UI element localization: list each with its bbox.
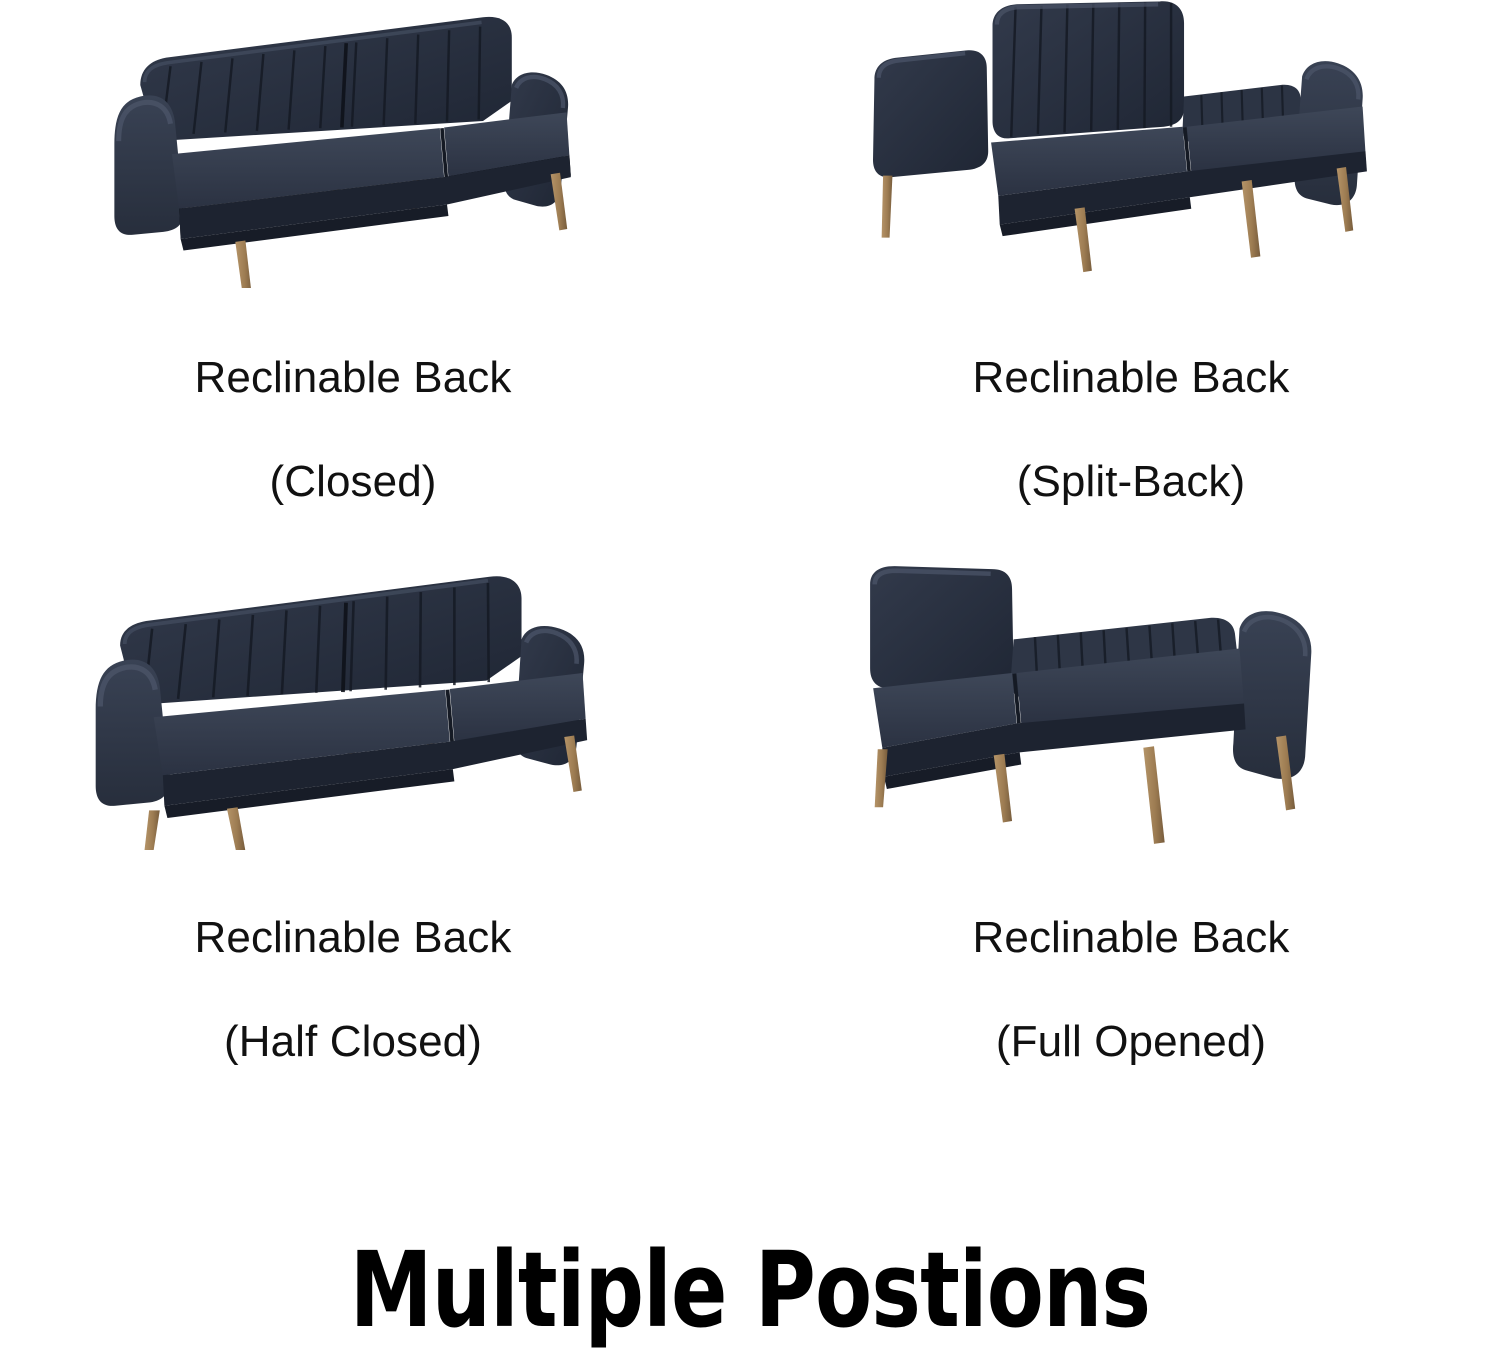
view-half-closed: Reclinable Back (Half Closed): [0, 560, 750, 1120]
caption-line1: Reclinable Back: [195, 352, 512, 404]
sofa-illustration-half-closed: [5, 560, 745, 850]
left-armrest-split: [873, 50, 988, 177]
sofa-illustration-split-back: [755, 0, 1495, 288]
caption-line1: Reclinable Back: [973, 352, 1290, 404]
sofa-illustration-full-opened: [755, 560, 1495, 850]
caption-split-back: Reclinable Back (Split-Back): [973, 300, 1290, 560]
caption-line2: (Full Opened): [973, 1016, 1290, 1068]
caption-line2: (Half Closed): [195, 1016, 512, 1068]
backrest-upright-split: [993, 1, 1185, 138]
sofa-illustration-closed: [5, 0, 745, 288]
caption-closed: Reclinable Back (Closed): [195, 300, 512, 560]
position-grid: Reclinable Back (Closed): [0, 0, 1500, 1160]
view-full-opened: Reclinable Back (Full Opened): [750, 560, 1500, 1120]
headline-multiple-positions: Multiple Postions: [150, 1238, 1350, 1342]
caption-full-opened: Reclinable Back (Full Opened): [973, 860, 1290, 1120]
view-split-back: Reclinable Back (Split-Back): [750, 0, 1500, 560]
caption-line2: (Split-Back): [973, 456, 1290, 508]
caption-line1: Reclinable Back: [973, 912, 1290, 964]
left-armrest-full: [870, 566, 1013, 693]
product-feature-image: Reclinable Back (Closed): [0, 0, 1500, 1337]
caption-line1: Reclinable Back: [195, 912, 512, 964]
caption-half-closed: Reclinable Back (Half Closed): [195, 860, 512, 1120]
view-closed: Reclinable Back (Closed): [0, 0, 750, 560]
caption-line2: (Closed): [195, 456, 512, 508]
